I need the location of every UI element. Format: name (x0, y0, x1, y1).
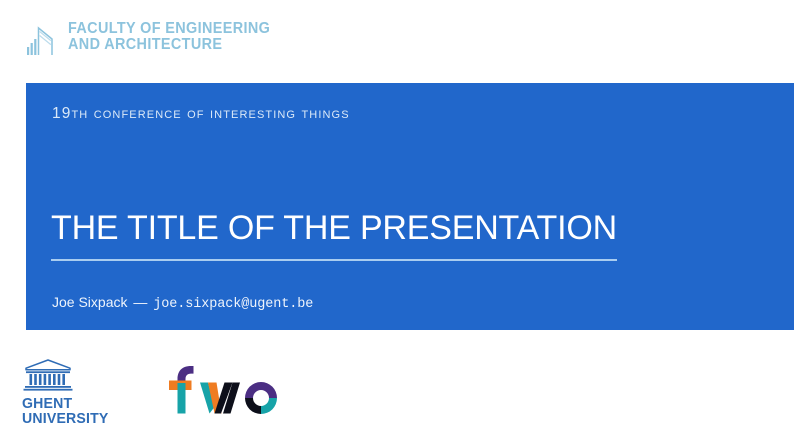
fwo-wordmark-icon (168, 362, 290, 418)
conference-subtitle: 19th Conference of Interesting Things (52, 105, 350, 123)
page-title: THE TITLE OF THE PRESENTATION (51, 209, 617, 261)
presentation-slide: FACULTY OF ENGINEERING AND ARCHITECTURE … (0, 0, 794, 447)
faculty-logo-wordmark: FACULTY OF ENGINEERING AND ARCHITECTURE (68, 21, 286, 54)
faculty-logo-line1: FACULTY OF ENGINEERING (68, 21, 270, 37)
author-email[interactable]: joe.sixpack@ugent.be (153, 297, 313, 312)
title-panel: 19th Conference of Interesting Things TH… (26, 83, 794, 330)
author-line: Joe Sixpack — joe.sixpack@ugent.be (52, 294, 313, 312)
ghent-logo-line2: UNIVERSITY (22, 411, 111, 426)
classical-temple-icon (23, 359, 73, 391)
faculty-building-bars-icon (26, 17, 60, 57)
ghent-logo-line1: GHENT (22, 396, 111, 411)
author-separator: — (131, 294, 149, 310)
faculty-logo: FACULTY OF ENGINEERING AND ARCHITECTURE (26, 17, 286, 57)
ghent-university-logo: GHENT UNIVERSITY (22, 359, 117, 427)
faculty-logo-line2: AND ARCHITECTURE (68, 37, 270, 53)
author-name: Joe Sixpack (52, 294, 127, 310)
ghent-logo-wordmark: GHENT UNIVERSITY (22, 396, 117, 427)
